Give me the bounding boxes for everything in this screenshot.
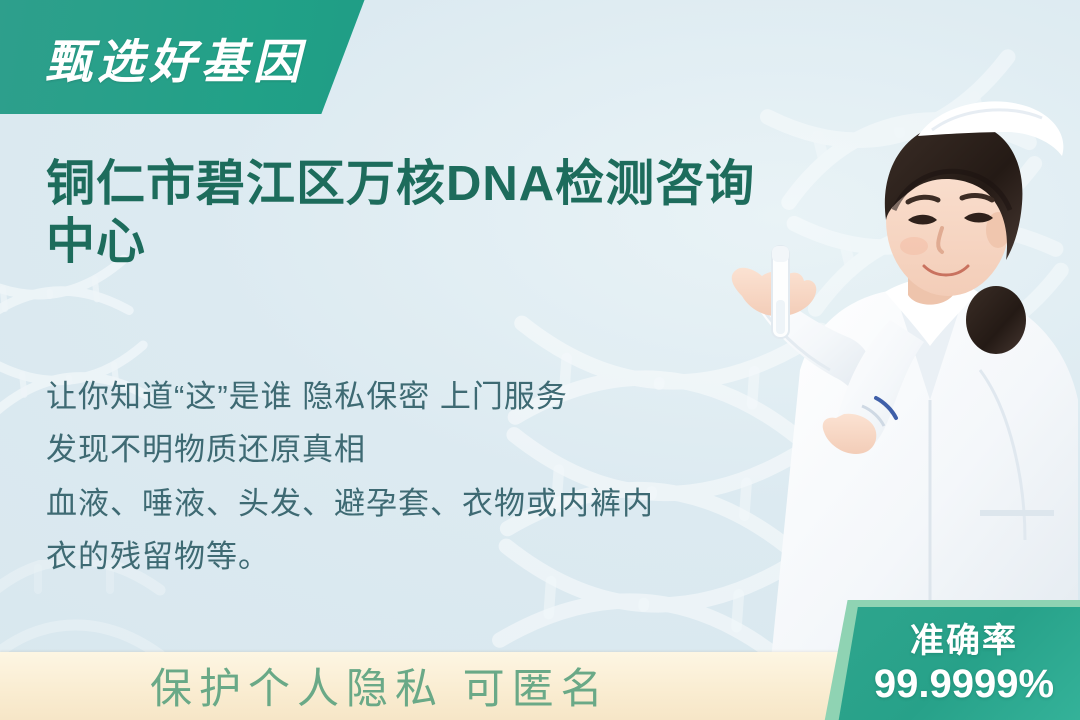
accuracy-value: 99.9999%	[874, 661, 1054, 707]
promo-poster: 甄选好基因	[0, 0, 1080, 720]
description-line-1: 让你知道“这”是谁 隐私保密 上门服务	[46, 370, 746, 423]
page-title: 铜仁市碧江区万核DNA检测咨询 中心	[46, 156, 836, 272]
brand-logo-text: 甄选好基因	[30, 18, 320, 96]
accuracy-label: 准确率	[910, 623, 1018, 660]
description-line-4: 衣的残留物等。	[46, 530, 746, 583]
description-line-2: 发现不明物质还原真相	[46, 423, 746, 476]
title-line-1: 铜仁市碧江区万核DNA检测咨询	[46, 156, 836, 214]
privacy-slogan: 保护个人隐私 可匿名	[150, 655, 610, 716]
description-text: 让你知道“这”是谁 隐私保密 上门服务 发现不明物质还原真相 血液、唾液、头发、…	[46, 370, 746, 583]
title-line-2: 中心	[46, 214, 836, 272]
accuracy-badge: 准确率 99.9999%	[824, 600, 1080, 720]
badge-content: 准确率 99.9999%	[852, 614, 1076, 716]
description-line-3: 血液、唾液、头发、避孕套、衣物或内裤内	[46, 477, 746, 530]
